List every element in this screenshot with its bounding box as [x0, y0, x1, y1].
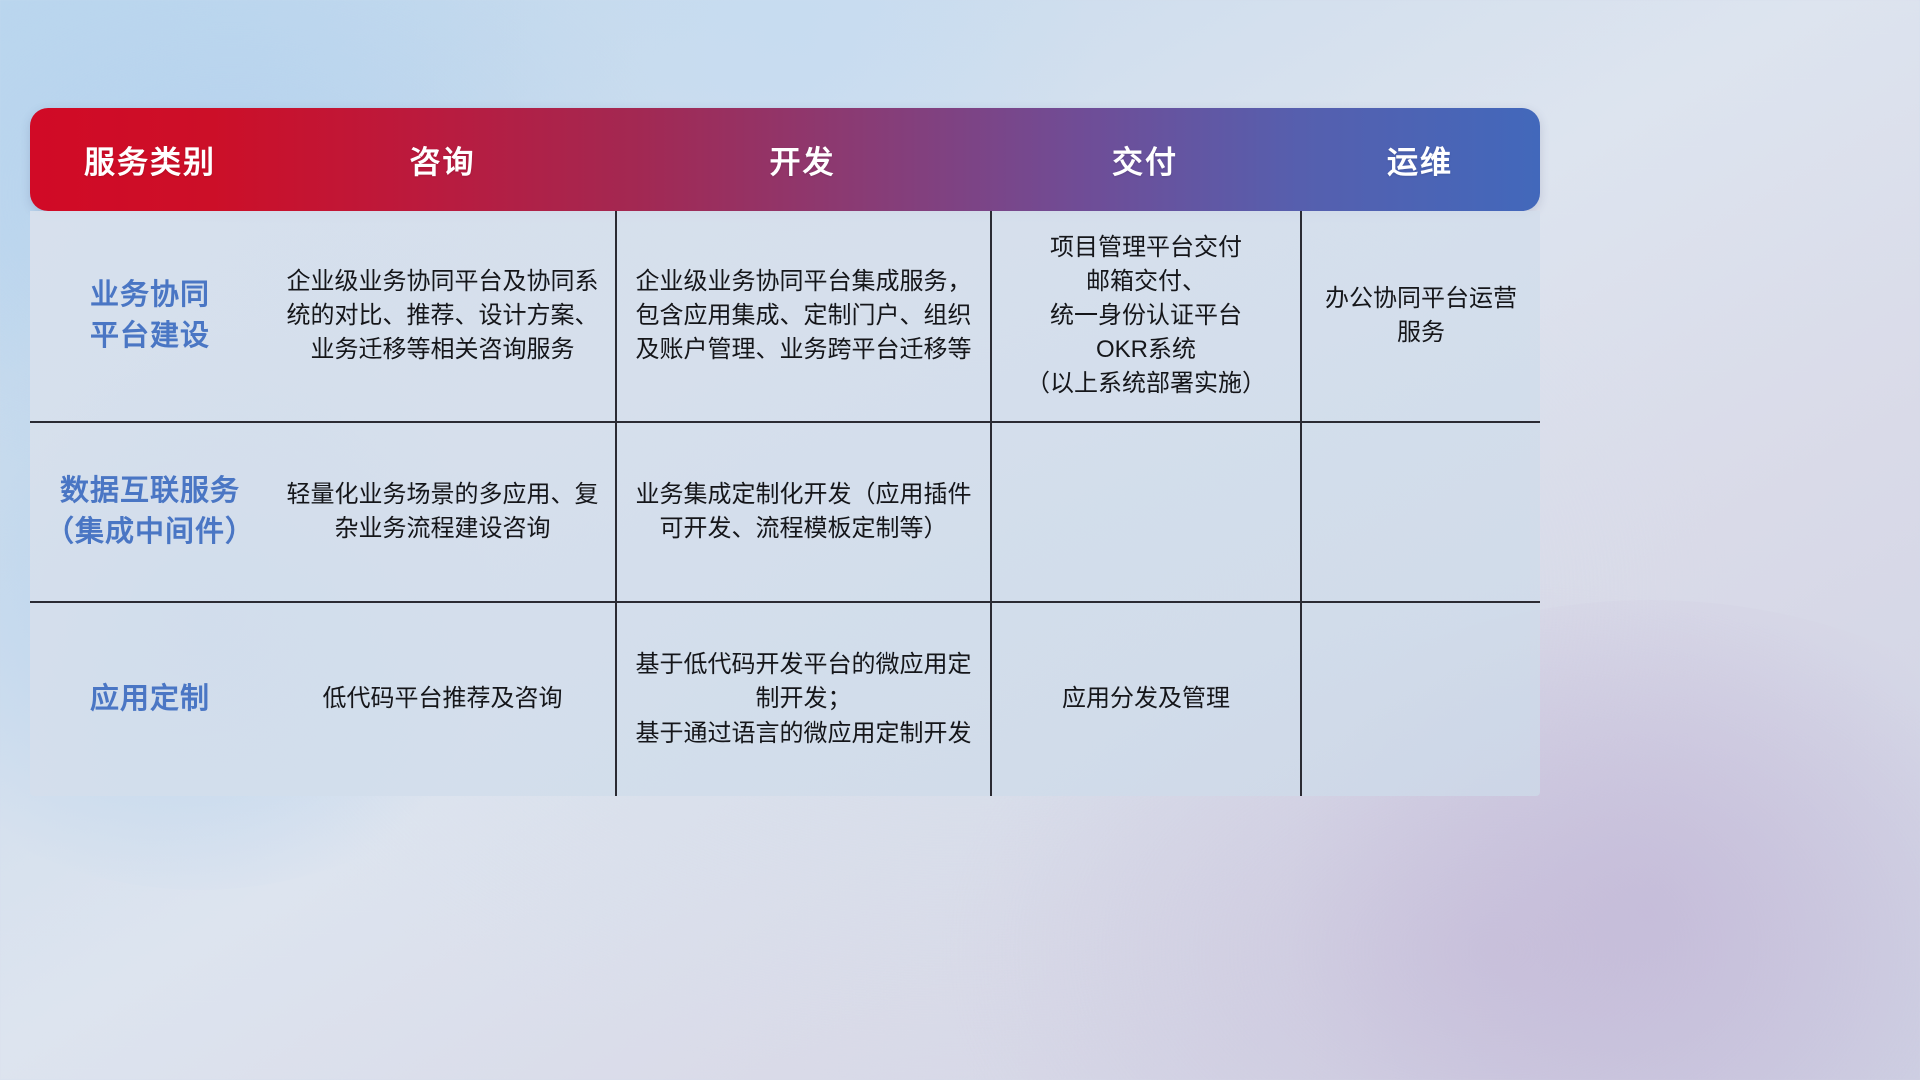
cell-text: 基于低代码开发平台的微应用定 制开发； 基于通过语言的微应用定制开发: [636, 648, 972, 750]
cell-row1-consulting: 轻量化业务场景的多应用、复 杂业务流程建设咨询: [270, 423, 615, 601]
column-header-consulting-label: 咨询: [410, 137, 476, 182]
cell-row2-development: 基于低代码开发平台的微应用定 制开发； 基于通过语言的微应用定制开发: [615, 603, 990, 796]
cell-text: 低代码平台推荐及咨询: [323, 682, 563, 716]
table-row: 应用定制 低代码平台推荐及咨询 基于低代码开发平台的微应用定 制开发； 基于通过…: [30, 601, 1540, 796]
column-header-consulting: 咨询: [270, 108, 615, 211]
table-row: 业务协同 平台建设 企业级业务协同平台及协同系 统的对比、推荐、设计方案、 业务…: [30, 211, 1540, 421]
cell-row0-operations: 办公协同平台运营服务: [1300, 211, 1540, 421]
cell-text: 项目管理平台交付 邮箱交付、 统一身份认证平台 OKR系统 （以上系统部署实施）: [1026, 231, 1266, 401]
cell-row1-operations: [1300, 423, 1540, 601]
column-header-category: 服务类别: [30, 108, 270, 211]
row-label-text: 业务协同 平台建设: [90, 275, 210, 357]
cell-text: 企业级业务协同平台及协同系 统的对比、推荐、设计方案、 业务迁移等相关咨询服务: [287, 265, 599, 367]
table-row: 数据互联服务 （集成中间件） 轻量化业务场景的多应用、复 杂业务流程建设咨询 业…: [30, 421, 1540, 601]
cell-row1-development: 业务集成定制化开发（应用插件 可开发、流程模板定制等）: [615, 423, 990, 601]
column-header-operations-label: 运维: [1387, 137, 1453, 182]
cell-row2-consulting: 低代码平台推荐及咨询: [270, 603, 615, 796]
row-label-data-interconnection: 数据互联服务 （集成中间件）: [30, 423, 270, 601]
cell-text: 办公协同平台运营服务: [1316, 282, 1526, 350]
row-label-text: 应用定制: [90, 679, 210, 720]
cell-row2-operations: [1300, 603, 1540, 796]
row-label-text: 数据互联服务 （集成中间件）: [45, 471, 255, 553]
cell-text: 轻量化业务场景的多应用、复 杂业务流程建设咨询: [287, 478, 599, 546]
cell-row2-delivery: 应用分发及管理: [990, 603, 1300, 796]
cell-row1-delivery: [990, 423, 1300, 601]
column-header-development: 开发: [615, 108, 990, 211]
row-label-business-collaboration: 业务协同 平台建设: [30, 211, 270, 421]
cell-text: 业务集成定制化开发（应用插件 可开发、流程模板定制等）: [636, 478, 972, 546]
column-header-delivery: 交付: [990, 108, 1300, 211]
cell-text: 企业级业务协同平台集成服务， 包含应用集成、定制门户、组织 及账户管理、业务跨平…: [636, 265, 972, 367]
matrix-header-bar: 服务类别 咨询 开发 交付 运维: [30, 108, 1540, 211]
column-header-operations: 运维: [1300, 108, 1540, 211]
cell-row0-development: 企业级业务协同平台集成服务， 包含应用集成、定制门户、组织 及账户管理、业务跨平…: [615, 211, 990, 421]
matrix-body: 业务协同 平台建设 企业级业务协同平台及协同系 统的对比、推荐、设计方案、 业务…: [30, 211, 1540, 796]
cell-row0-consulting: 企业级业务协同平台及协同系 统的对比、推荐、设计方案、 业务迁移等相关咨询服务: [270, 211, 615, 421]
column-header-category-label: 服务类别: [84, 137, 216, 182]
row-label-application-customization: 应用定制: [30, 603, 270, 796]
cell-text: 应用分发及管理: [1062, 682, 1230, 716]
column-header-development-label: 开发: [770, 137, 836, 182]
service-matrix: 服务类别 咨询 开发 交付 运维 业务协同 平台建设 企业级业务协同平台及协同系…: [30, 108, 1540, 796]
column-header-delivery-label: 交付: [1112, 137, 1178, 182]
cell-row0-delivery: 项目管理平台交付 邮箱交付、 统一身份认证平台 OKR系统 （以上系统部署实施）: [990, 211, 1300, 421]
